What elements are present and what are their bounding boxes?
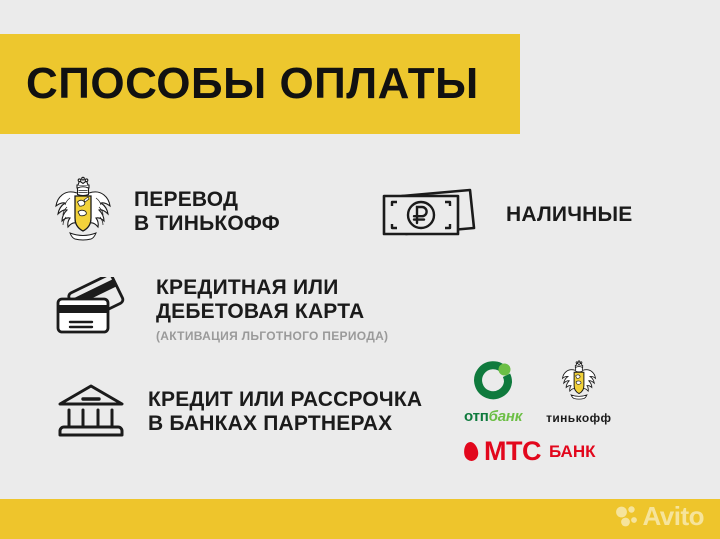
- method-subtitle: (АКТИВАЦИЯ ЛЬГОТНОГО ПЕРИОДА): [156, 330, 388, 343]
- otp-bank-wordmark: отпбанк: [464, 409, 522, 424]
- method-label-line-2: В ТИНЬКОФФ: [134, 212, 280, 236]
- method-label-line-1: КРЕДИТНАЯ ИЛИ: [156, 276, 388, 300]
- tinkoff-crest-icon: [48, 176, 118, 248]
- mts-wordmark-primary: МТС: [484, 438, 541, 465]
- avito-dots-icon: [614, 503, 640, 529]
- page-title: СПОСОБЫ ОПЛАТЫ: [26, 62, 479, 106]
- payment-method-cash: НАЛИЧНЫЕ: [378, 186, 633, 244]
- otp-word-secondary: банк: [489, 408, 523, 425]
- partner-banks-group: отпбанк: [464, 360, 654, 465]
- method-label-line-1: ПЕРЕВОД: [134, 188, 280, 212]
- partner-mts-bank: МТС БАНК: [464, 438, 654, 465]
- avito-wordmark: Avito: [642, 503, 704, 529]
- payment-method-labels: КРЕДИТ ИЛИ РАССРОЧКА В БАНКАХ ПАРТНЕРАХ: [148, 388, 422, 435]
- payment-method-transfer-tinkoff: ПЕРЕВОД В ТИНЬКОФФ: [48, 176, 280, 248]
- avito-watermark-bar: Avito: [0, 499, 720, 539]
- method-label-line-1: КРЕДИТ ИЛИ РАССРОЧКА: [148, 388, 422, 412]
- mts-wordmark-secondary: БАНК: [549, 443, 596, 460]
- method-label-line-2: В БАНКАХ ПАРТНЕРАХ: [148, 412, 422, 436]
- bank-building-icon: [54, 382, 128, 442]
- tinkoff-crest-icon: [557, 360, 601, 409]
- banknotes-ruble-icon: [378, 186, 482, 244]
- partner-otp-bank: отпбанк: [464, 360, 522, 424]
- credit-cards-icon: [52, 277, 136, 343]
- method-label-line-2: ДЕБЕТОВАЯ КАРТА: [156, 300, 388, 324]
- otp-word-primary: отп: [464, 408, 489, 425]
- payment-method-labels: ПЕРЕВОД В ТИНЬКОФФ: [134, 188, 280, 235]
- payment-methods-poster: СПОСОБЫ ОПЛАТЫ: [0, 0, 720, 539]
- avito-watermark: Avito: [614, 503, 704, 529]
- partner-banks-top-row: отпбанк: [464, 360, 654, 424]
- otp-bank-logo-icon: [470, 360, 516, 407]
- mts-egg-icon: [463, 441, 480, 462]
- payment-method-labels: НАЛИЧНЫЕ: [506, 203, 633, 227]
- payment-method-credit-debit-card: КРЕДИТНАЯ ИЛИ ДЕБЕТОВАЯ КАРТА (АКТИВАЦИЯ…: [52, 276, 388, 343]
- method-label-line-1: НАЛИЧНЫЕ: [506, 203, 633, 227]
- tinkoff-wordmark: тинькофф: [546, 412, 611, 424]
- partner-tinkoff-bank: тинькофф: [546, 360, 611, 424]
- payment-method-credit-installment: КРЕДИТ ИЛИ РАССРОЧКА В БАНКАХ ПАРТНЕРАХ: [54, 382, 422, 442]
- payment-method-labels: КРЕДИТНАЯ ИЛИ ДЕБЕТОВАЯ КАРТА (АКТИВАЦИЯ…: [156, 276, 388, 343]
- title-banner: СПОСОБЫ ОПЛАТЫ: [0, 34, 520, 134]
